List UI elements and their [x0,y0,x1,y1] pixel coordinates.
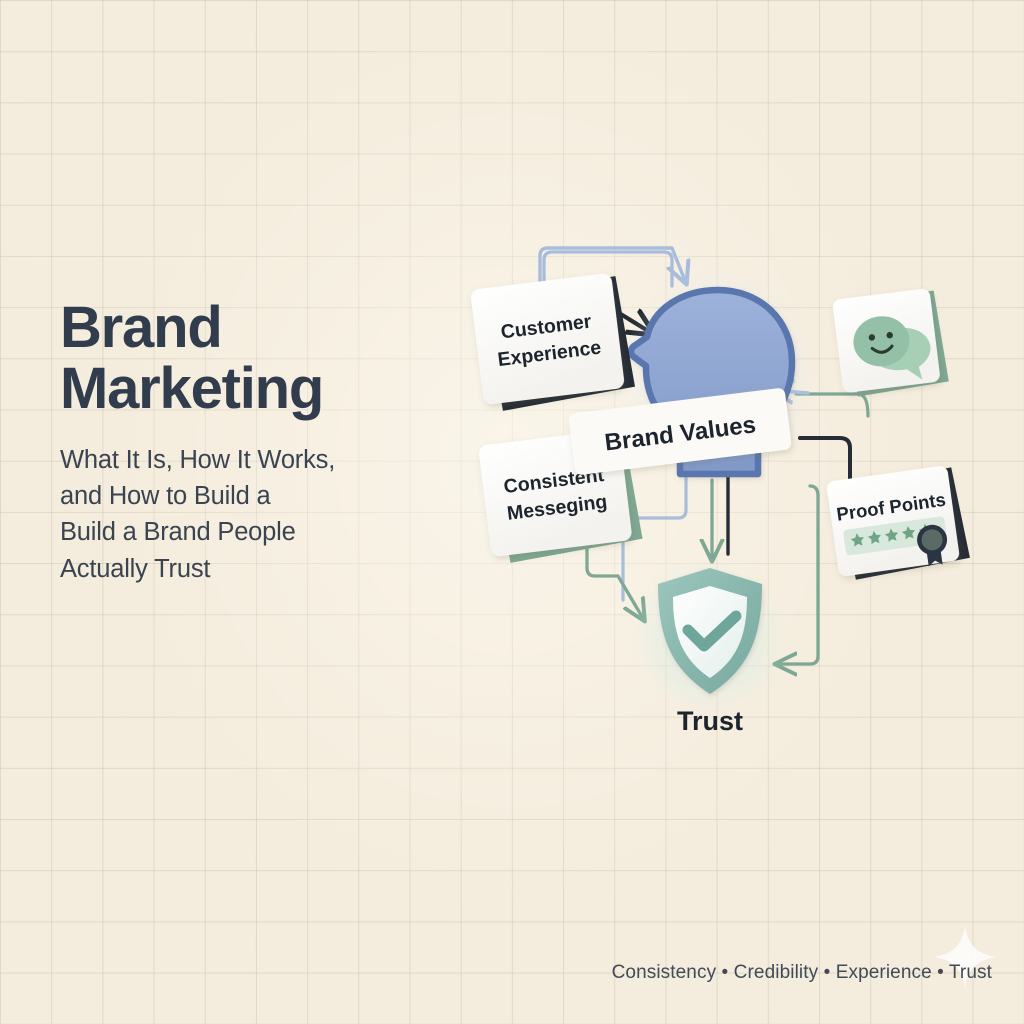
subtitle-line-2: and How to Build a [60,478,460,514]
node-proof-points[interactable]: Proof Points [826,464,971,582]
trust-node[interactable]: Trust [632,558,788,736]
page-subtitle: What It Is, How It Works, and How to Bui… [60,442,460,587]
footer-tagline: Consistency • Credibility • Experience •… [0,962,992,984]
trust-label: Trust [677,706,743,736]
title-line-1: Brand [60,295,222,360]
cx-card-face [470,273,625,405]
subtitle-line-1: What It Is, How It Works, [60,442,460,478]
node-sentiment-card[interactable] [832,287,949,398]
poster-canvas: Brand Marketing What It Is, How It Works… [0,0,1024,1024]
node-customer-experience[interactable]: Customer Experience [470,271,636,413]
headline-block: Brand Marketing What It Is, How It Works… [60,297,460,587]
subtitle-line-3: Build a Brand People [60,514,460,550]
title-line-2: Marketing [60,358,460,419]
brand-trust-flow-diagram: Trust Customer Experience Consistent Mes… [440,238,1000,738]
subtitle-line-4: Actually Trust [60,551,460,587]
page-title: Brand Marketing [60,297,460,420]
